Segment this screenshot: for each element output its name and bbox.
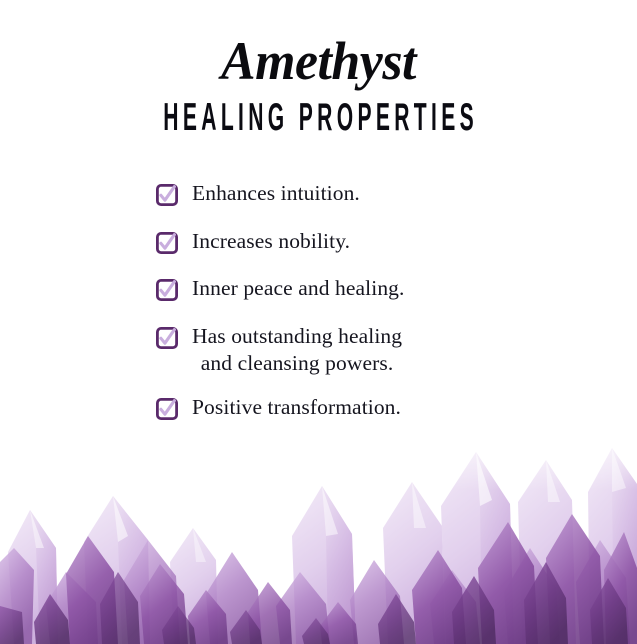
list-item: Increases nobility. <box>156 228 576 256</box>
header: Amethyst HEALING PROPERTIES <box>0 0 637 131</box>
healing-properties-list: Enhances intuition. Increases nobility. … <box>156 180 576 441</box>
page-subtitle: HEALING PROPERTIES <box>121 88 516 137</box>
list-item-label: Increases nobility. <box>192 228 350 256</box>
page-title: Amethyst <box>13 0 625 88</box>
checkbox-checked-icon <box>156 184 178 206</box>
checkbox-checked-icon <box>156 232 178 254</box>
list-item: Enhances intuition. <box>156 180 576 208</box>
amethyst-crystal-photo <box>0 444 637 644</box>
list-item: Positive transformation. <box>156 394 576 422</box>
list-item-label: Has outstanding healing and cleansing po… <box>192 323 402 378</box>
list-item-label: Enhances intuition. <box>192 180 360 208</box>
checkbox-checked-icon <box>156 327 178 349</box>
checkbox-checked-icon <box>156 279 178 301</box>
crystal-cluster-illustration <box>0 444 637 644</box>
checkbox-checked-icon <box>156 398 178 420</box>
list-item-label: Positive transformation. <box>192 394 401 422</box>
list-item-label: Inner peace and healing. <box>192 275 405 303</box>
list-item: Inner peace and healing. <box>156 275 576 303</box>
amethyst-infographic: Amethyst HEALING PROPERTIES Enhances int… <box>0 0 637 644</box>
list-item: Has outstanding healing and cleansing po… <box>156 323 576 378</box>
